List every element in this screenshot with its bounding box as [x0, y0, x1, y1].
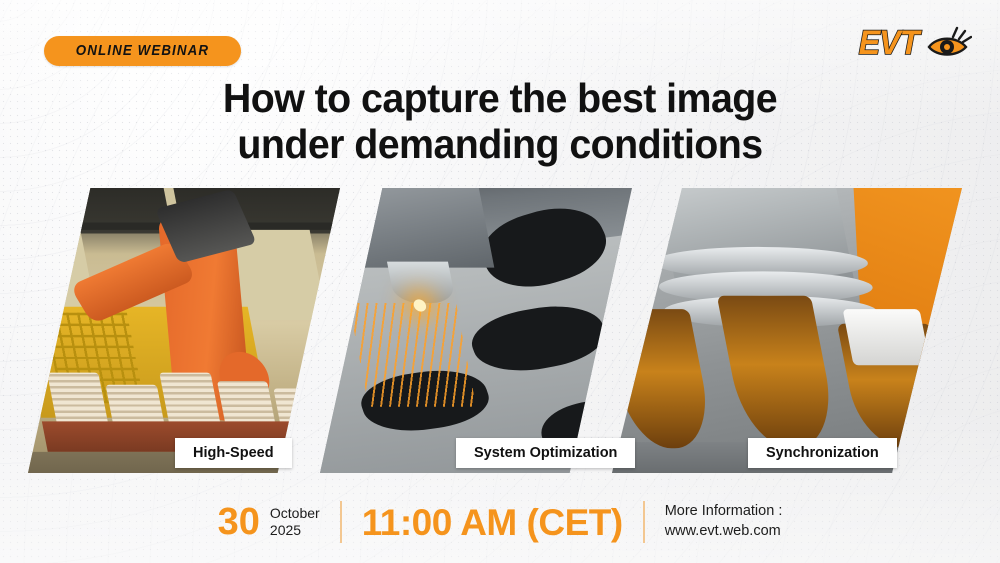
headline-line-2: under demanding conditions — [20, 122, 980, 168]
eye-icon — [926, 26, 972, 60]
caption-label: System Optimization — [474, 445, 617, 461]
more-information-label: More Information : — [665, 502, 783, 522]
laser-cutting-photo — [320, 188, 632, 473]
topic-panel-high-speed — [28, 188, 340, 473]
evt-logo-text: EVT — [858, 26, 918, 60]
robot-arm-photo — [28, 188, 340, 473]
event-year: 2025 — [270, 522, 320, 539]
caption-label: High-Speed — [193, 445, 274, 461]
online-webinar-badge-label: ONLINE WEBINAR — [76, 43, 209, 59]
bottle-capping-photo — [612, 188, 962, 473]
page-title: How to capture the best image under dema… — [20, 76, 980, 168]
divider — [340, 501, 342, 543]
caption-label: Synchronization — [766, 445, 879, 461]
topic-image-panels — [0, 188, 1000, 473]
panel-caption-synchronization: Synchronization — [748, 438, 897, 468]
website-link[interactable]: www.evt.web.com — [665, 522, 783, 542]
online-webinar-badge: ONLINE WEBINAR — [44, 36, 241, 66]
event-details-bar: 30 October 2025 11:00 AM (CET) More Info… — [0, 492, 1000, 552]
event-month-year: October 2025 — [270, 505, 320, 538]
event-month: October — [270, 505, 320, 522]
event-date: 30 October 2025 — [218, 503, 320, 541]
panel-caption-system-optimization: System Optimization — [456, 438, 635, 468]
topic-panel-system-optimization — [320, 188, 632, 473]
evt-logo[interactable]: EVT — [857, 26, 972, 60]
divider — [643, 501, 645, 543]
event-time: 11:00 AM (CET) — [362, 504, 623, 541]
event-day: 30 — [218, 503, 260, 541]
headline-line-1: How to capture the best image — [20, 76, 980, 122]
webinar-poster: ONLINE WEBINAR EVT How to capture the be… — [0, 0, 1000, 563]
topic-panel-synchronization — [612, 188, 962, 473]
more-information: More Information : www.evt.web.com — [665, 502, 783, 541]
panel-caption-high-speed: High-Speed — [175, 438, 292, 468]
